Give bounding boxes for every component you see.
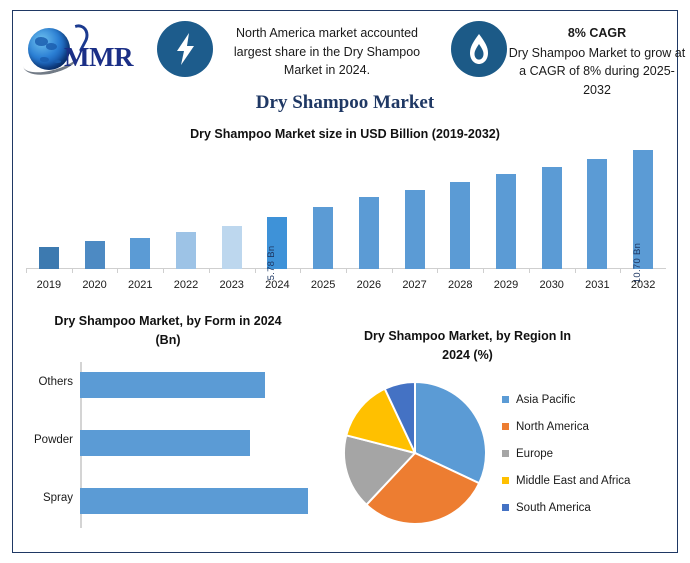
by-form-title-line1: Dry Shampoo Market, by Form in 2024 [54, 314, 281, 328]
mmr-logo: MMR [22, 20, 144, 82]
x-axis-label-2027: 2027 [392, 279, 438, 291]
logo-text: MMR [64, 42, 133, 73]
bar-column-2027 [392, 150, 438, 269]
axis-tick [346, 269, 347, 273]
axis-tick [575, 269, 576, 273]
axis-tick [26, 269, 27, 273]
x-axis-label-2032: 2032 [620, 279, 666, 291]
bar-column-2024: 5.78 Bn [255, 150, 301, 269]
by-form-label-others: Others [38, 376, 73, 388]
by-form-chart-title: Dry Shampoo Market, by Form in 2024 (Bn) [18, 312, 318, 350]
axis-tick [300, 269, 301, 273]
x-axis-label-2020: 2020 [72, 279, 118, 291]
bar-column-2021 [117, 150, 163, 269]
by-region-pie-chart [342, 380, 488, 526]
by-region-chart-title: Dry Shampoo Market, by Region In 2024 (%… [335, 327, 600, 365]
bar-column-2025 [300, 150, 346, 269]
axis-tick [117, 269, 118, 273]
bar-2032: 10.70 Bn [633, 150, 653, 269]
pie-legend: Asia PacificNorth AmericaEuropeMiddle Ea… [502, 386, 674, 521]
by-form-label-powder: Powder [34, 434, 73, 446]
bar-column-2029 [483, 150, 529, 269]
x-axis-label-2026: 2026 [346, 279, 392, 291]
x-axis-label-2031: 2031 [575, 279, 621, 291]
bar-2028 [450, 182, 470, 269]
left-callout-text: North America market accounted largest s… [219, 24, 435, 80]
header: MMR North America market accounted large… [14, 12, 676, 90]
legend-swatch-icon [502, 396, 509, 403]
flame-droplet-icon [451, 21, 507, 77]
by-form-label-spray: Spray [43, 492, 73, 504]
right-callout-text: Dry Shampoo Market to grow at a CAGR of … [509, 46, 685, 97]
by-form-row-spray: Spray [80, 488, 308, 514]
bar-2024: 5.78 Bn [267, 217, 287, 269]
axis-tick [255, 269, 256, 273]
by-form-title-line2: (Bn) [156, 333, 181, 347]
bar-column-2020 [72, 150, 118, 269]
by-region-title-line2: 2024 (%) [442, 348, 493, 362]
x-axis-label-2030: 2030 [529, 279, 575, 291]
axis-tick [483, 269, 484, 273]
bar-value-label-2024: 5.78 Bn [266, 246, 277, 281]
bar-column-2019 [26, 150, 72, 269]
market-size-bar-chart: 201920202021202220235.78 Bn2024202520262… [26, 150, 666, 295]
x-axis-label-2019: 2019 [26, 279, 72, 291]
by-form-bar-chart: OthersPowderSpray [80, 362, 320, 532]
axis-tick [163, 269, 164, 273]
bar-column-2030 [529, 150, 575, 269]
legend-label: Middle East and Africa [516, 475, 630, 487]
bar-column-2023 [209, 150, 255, 269]
bar-2030 [542, 167, 562, 269]
lightning-bolt-icon [157, 21, 213, 77]
bar-2026 [359, 197, 379, 269]
bar-column-2028 [437, 150, 483, 269]
x-axis-label-2024: 2024 [255, 279, 301, 291]
bar-value-label-2032: 10.70 Bn [632, 243, 643, 283]
bar-2025 [313, 207, 333, 269]
page-title: Dry Shampoo Market [0, 92, 690, 114]
legend-item-europe: Europe [502, 440, 674, 467]
legend-swatch-icon [502, 450, 509, 457]
right-callout: 8% CAGR Dry Shampoo Market to grow at a … [508, 24, 686, 99]
axis-tick [620, 269, 621, 273]
x-axis-label-2025: 2025 [300, 279, 346, 291]
by-form-row-powder: Powder [80, 430, 308, 456]
bar-2029 [496, 174, 516, 269]
x-axis-label-2021: 2021 [117, 279, 163, 291]
cagr-headline: 8% CAGR [508, 24, 686, 43]
bar-2027 [405, 190, 425, 269]
bar-column-2022 [163, 150, 209, 269]
axis-tick [529, 269, 530, 273]
by-form-bar-others [80, 372, 265, 398]
legend-item-north-america: North America [502, 413, 674, 440]
x-axis-label-2022: 2022 [163, 279, 209, 291]
legend-label: Asia Pacific [516, 394, 575, 406]
legend-swatch-icon [502, 423, 509, 430]
by-region-title-line1: Dry Shampoo Market, by Region In [364, 329, 571, 343]
legend-item-middle-east-and-africa: Middle East and Africa [502, 467, 674, 494]
legend-label: North America [516, 421, 589, 433]
by-form-bar-powder [80, 430, 250, 456]
bar-2023 [222, 226, 242, 269]
by-form-row-others: Others [80, 372, 308, 398]
legend-swatch-icon [502, 504, 509, 511]
bar-2020 [85, 241, 105, 269]
legend-item-asia-pacific: Asia Pacific [502, 386, 674, 413]
bar-2021 [130, 238, 150, 269]
bar-2031 [587, 159, 607, 269]
axis-tick [209, 269, 210, 273]
bar-column-2032: 10.70 Bn [620, 150, 666, 269]
by-form-bar-spray [80, 488, 308, 514]
bar-column-2026 [346, 150, 392, 269]
bar-2022 [176, 232, 196, 269]
x-axis-label-2028: 2028 [437, 279, 483, 291]
legend-label: Europe [516, 448, 553, 460]
legend-label: South America [516, 502, 591, 514]
legend-swatch-icon [502, 477, 509, 484]
bar-2019 [39, 247, 59, 269]
bar-column-2031 [575, 150, 621, 269]
axis-tick [437, 269, 438, 273]
legend-item-south-america: South America [502, 494, 674, 521]
axis-tick [72, 269, 73, 273]
axis-tick [392, 269, 393, 273]
x-axis-label-2023: 2023 [209, 279, 255, 291]
x-axis-label-2029: 2029 [483, 279, 529, 291]
market-size-chart-title: Dry Shampoo Market size in USD Billion (… [0, 127, 690, 141]
infographic-canvas: MMR North America market accounted large… [0, 0, 690, 563]
